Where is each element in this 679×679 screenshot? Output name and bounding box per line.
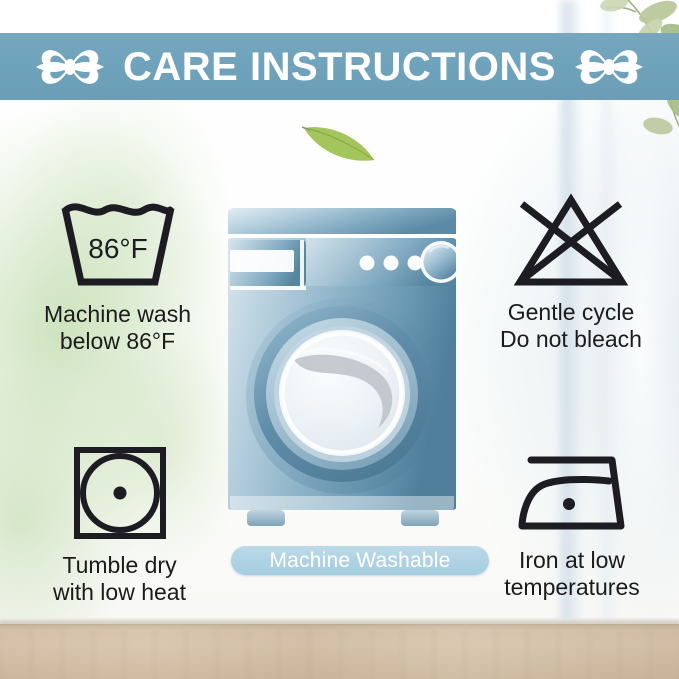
care-symbol-caption: Machine wash below 86°F xyxy=(10,301,225,354)
care-symbol-gentle-cycle-no-bleach: Gentle cycle Do not bleach xyxy=(466,190,676,352)
fleur-de-lis-right-icon xyxy=(572,42,646,92)
header-banner: CARE INSTRUCTIONS xyxy=(0,33,679,100)
wood-grain-texture xyxy=(0,630,679,679)
care-symbol-caption: Gentle cycle Do not bleach xyxy=(466,299,676,352)
machine-foot-right xyxy=(401,510,439,526)
care-instructions-graphic: CARE INSTRUCTIONS 86°F Machine wash belo… xyxy=(0,0,679,679)
wash-tub-icon: 86°F xyxy=(10,196,225,292)
care-symbol-caption: Tumble dry with low heat xyxy=(12,552,227,605)
front-load-washing-machine-illustration xyxy=(228,204,456,534)
machine-washable-badge: Machine Washable xyxy=(231,546,489,575)
care-symbol-machine-wash: 86°F Machine wash below 86°F xyxy=(10,196,225,354)
iron-low-heat-icon xyxy=(468,448,676,538)
care-symbol-tumble-dry: Tumble dry with low heat xyxy=(12,443,227,605)
page-title: CARE INSTRUCTIONS xyxy=(123,47,556,87)
control-button-2 xyxy=(384,256,399,271)
care-symbol-iron-low: Iron at low temperatures xyxy=(468,448,676,600)
wash-temperature-value: 86°F xyxy=(88,233,147,264)
fleur-de-lis-left-icon xyxy=(33,42,107,92)
machine-top-panel xyxy=(228,208,456,234)
detergent-drawer-slot xyxy=(230,250,294,272)
machine-foot-left xyxy=(247,510,285,526)
do-not-bleach-triangle-icon xyxy=(466,190,676,290)
tumble-dry-low-icon xyxy=(12,443,227,543)
care-symbol-caption: Iron at low temperatures xyxy=(468,547,676,600)
control-button-1 xyxy=(360,256,375,271)
machine-washable-badge-label: Machine Washable xyxy=(269,550,450,571)
